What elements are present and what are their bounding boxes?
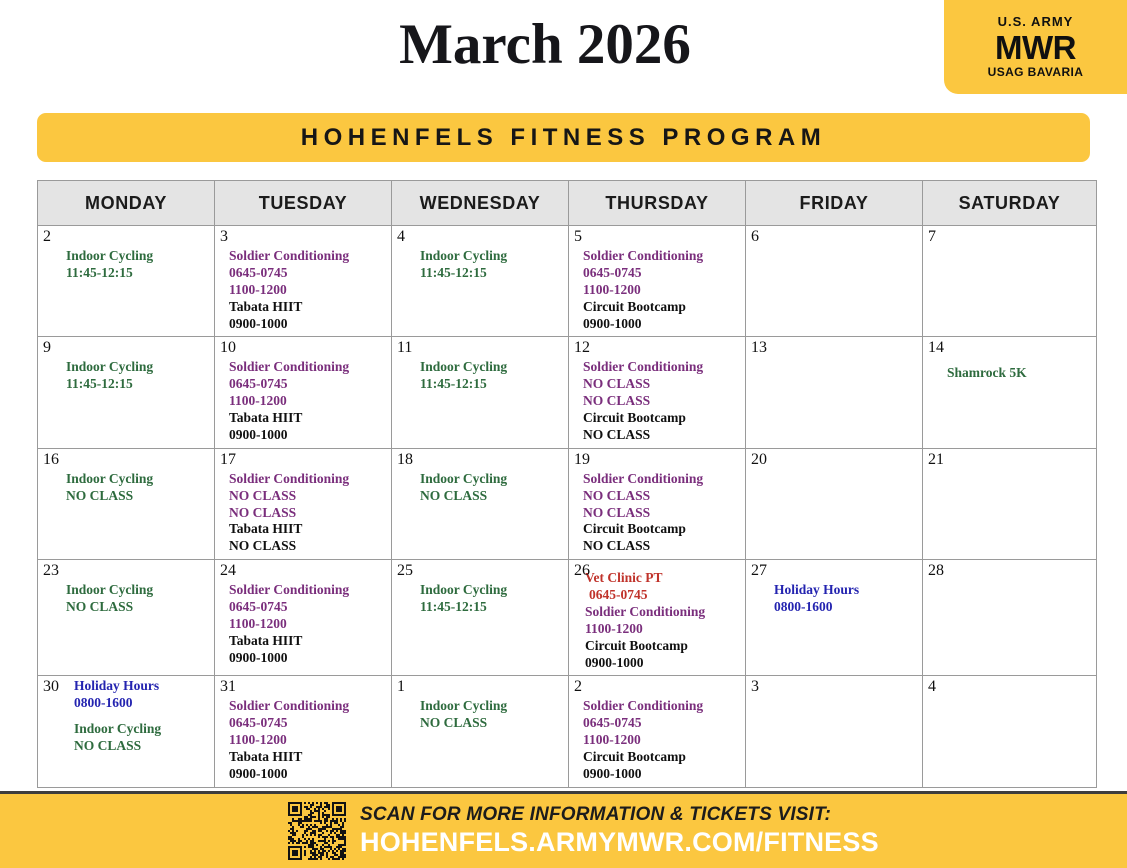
calendar-week-row: 16Indoor CyclingNO CLASS17Soldier Condit… bbox=[38, 448, 1097, 559]
calendar-day-cell[interactable]: 20 bbox=[746, 448, 923, 559]
calendar-header-row: MONDAY TUESDAY WEDNESDAY THURSDAY FRIDAY… bbox=[38, 181, 1097, 226]
event-line: 0900-1000 bbox=[583, 766, 741, 783]
event-line: 0645-0745 bbox=[583, 715, 741, 732]
day-number: 10 bbox=[220, 339, 236, 357]
event-line: 11:45-12:15 bbox=[66, 265, 210, 282]
calendar-day-cell[interactable]: 23Indoor CyclingNO CLASS bbox=[38, 560, 215, 676]
calendar-day-cell[interactable]: 31Soldier Conditioning0645-07451100-1200… bbox=[215, 676, 392, 788]
event-line: 0900-1000 bbox=[229, 427, 387, 444]
event-line: Tabata HIIT bbox=[229, 410, 387, 427]
day-number: 2 bbox=[43, 228, 51, 246]
event-line: 1100-1200 bbox=[229, 732, 387, 749]
event-line: NO CLASS bbox=[583, 376, 741, 393]
event-line: 0900-1000 bbox=[583, 316, 741, 333]
day-events: Soldier Conditioning0645-07451100-1200Ci… bbox=[569, 676, 745, 786]
calendar-body: 2Indoor Cycling11:45-12:153Soldier Condi… bbox=[38, 226, 1097, 788]
calendar-week-row: 2Indoor Cycling11:45-12:153Soldier Condi… bbox=[38, 226, 1097, 337]
calendar-day-cell[interactable]: 25Indoor Cycling11:45-12:15 bbox=[392, 560, 569, 676]
calendar-day-cell[interactable]: 9Indoor Cycling11:45-12:15 bbox=[38, 337, 215, 448]
day-events: Soldier Conditioning0645-07451100-1200Ta… bbox=[215, 560, 391, 670]
day-number: 9 bbox=[43, 339, 51, 357]
event-line: 0900-1000 bbox=[229, 316, 387, 333]
day-number: 30 bbox=[43, 678, 59, 696]
event-line: NO CLASS bbox=[74, 738, 210, 755]
calendar-week-row: 23Indoor CyclingNO CLASS24Soldier Condit… bbox=[38, 560, 1097, 676]
event-line: Circuit Bootcamp bbox=[583, 521, 741, 538]
event-line: 1100-1200 bbox=[229, 616, 387, 633]
mwr-logo-line2: MWR bbox=[995, 31, 1076, 64]
event-line: NO CLASS bbox=[229, 488, 387, 505]
day-number: 6 bbox=[751, 228, 759, 246]
weekday-header-saturday: SATURDAY bbox=[923, 181, 1097, 226]
event-line: 0645-0745 bbox=[229, 376, 387, 393]
footer-scan-label: SCAN FOR MORE INFORMATION & TICKETS VISI… bbox=[360, 804, 879, 827]
calendar-day-cell[interactable]: 26Vet Clinic PT0645-0745Soldier Conditio… bbox=[569, 560, 746, 676]
day-number: 3 bbox=[220, 228, 228, 246]
calendar-day-cell[interactable]: 17Soldier ConditioningNO CLASSNO CLASSTa… bbox=[215, 448, 392, 559]
weekday-header-friday: FRIDAY bbox=[746, 181, 923, 226]
calendar-day-cell[interactable]: 6 bbox=[746, 226, 923, 337]
event-line: 1100-1200 bbox=[229, 393, 387, 410]
event-line: Soldier Conditioning bbox=[229, 582, 387, 599]
day-number: 4 bbox=[397, 228, 405, 246]
day-events: Soldier Conditioning0645-07451100-1200Ta… bbox=[215, 676, 391, 786]
day-number: 25 bbox=[397, 562, 413, 580]
program-banner: HOHENFELS FITNESS PROGRAM bbox=[37, 113, 1090, 162]
calendar-day-cell[interactable]: 1Indoor CyclingNO CLASS bbox=[392, 676, 569, 788]
day-number: 2 bbox=[574, 678, 582, 696]
event-line: Holiday Hours bbox=[774, 582, 918, 599]
day-number: 4 bbox=[928, 678, 936, 696]
event-line: Soldier Conditioning bbox=[585, 604, 741, 621]
event-line: Soldier Conditioning bbox=[229, 359, 387, 376]
event-line: 11:45-12:15 bbox=[420, 265, 564, 282]
event-line: NO CLASS bbox=[420, 488, 564, 505]
event-line: 0645-0745 bbox=[229, 715, 387, 732]
day-events: Soldier ConditioningNO CLASSNO CLASSCirc… bbox=[569, 449, 745, 559]
calendar-day-cell[interactable]: 5Soldier Conditioning0645-07451100-1200C… bbox=[569, 226, 746, 337]
event-line: Indoor Cycling bbox=[420, 582, 564, 599]
calendar-grid: MONDAY TUESDAY WEDNESDAY THURSDAY FRIDAY… bbox=[37, 180, 1097, 788]
day-events: Holiday Hours0800-1600 bbox=[746, 560, 922, 620]
event-line: NO CLASS bbox=[229, 505, 387, 522]
event-line: Soldier Conditioning bbox=[583, 471, 741, 488]
day-events: Indoor Cycling11:45-12:15 bbox=[392, 226, 568, 286]
calendar-day-cell[interactable]: 14Shamrock 5K bbox=[923, 337, 1097, 448]
event-line: Tabata HIIT bbox=[229, 633, 387, 650]
day-events: Indoor Cycling11:45-12:15 bbox=[38, 226, 214, 286]
weekday-header-thursday: THURSDAY bbox=[569, 181, 746, 226]
calendar-day-cell[interactable]: 7 bbox=[923, 226, 1097, 337]
event-line: 0645-0745 bbox=[229, 265, 387, 282]
event-line: NO CLASS bbox=[583, 427, 741, 444]
event-line: Circuit Bootcamp bbox=[583, 749, 741, 766]
day-number: 31 bbox=[220, 678, 236, 696]
event-line: 0800-1600 bbox=[74, 695, 210, 712]
event-line: 1100-1200 bbox=[585, 621, 741, 638]
day-number: 28 bbox=[928, 562, 944, 580]
event-line: Holiday Hours bbox=[74, 678, 210, 695]
event-line: 0900-1000 bbox=[229, 766, 387, 783]
event-line: Vet Clinic PT bbox=[585, 570, 741, 587]
mwr-logo-line3: USAG BAVARIA bbox=[988, 66, 1084, 79]
calendar-week-row: 30Holiday Hours0800-1600Indoor CyclingNO… bbox=[38, 676, 1097, 788]
event-line: NO CLASS bbox=[583, 538, 741, 555]
event-line: Soldier Conditioning bbox=[229, 698, 387, 715]
event-line: 0645-0745 bbox=[585, 587, 741, 604]
event-line: Soldier Conditioning bbox=[229, 471, 387, 488]
day-number: 18 bbox=[397, 451, 413, 469]
event-line: Indoor Cycling bbox=[420, 359, 564, 376]
weekday-header-wednesday: WEDNESDAY bbox=[392, 181, 569, 226]
day-number: 5 bbox=[574, 228, 582, 246]
event-line: Indoor Cycling bbox=[66, 359, 210, 376]
event-line: Shamrock 5K bbox=[947, 365, 1092, 382]
day-number: 19 bbox=[574, 451, 590, 469]
event-line: 1100-1200 bbox=[583, 282, 741, 299]
event-line: 0900-1000 bbox=[229, 650, 387, 667]
event-line: Indoor Cycling bbox=[66, 582, 210, 599]
event-line: NO CLASS bbox=[66, 599, 210, 616]
day-number: 7 bbox=[928, 228, 936, 246]
day-events: Indoor CyclingNO CLASS bbox=[38, 560, 214, 620]
day-events: Indoor Cycling11:45-12:15 bbox=[392, 560, 568, 620]
event-line: Indoor Cycling bbox=[66, 471, 210, 488]
event-line: 0800-1600 bbox=[774, 599, 918, 616]
day-events: Indoor CyclingNO CLASS bbox=[392, 676, 568, 736]
event-line: Soldier Conditioning bbox=[583, 359, 741, 376]
event-line: 0645-0745 bbox=[583, 265, 741, 282]
event-line: 1100-1200 bbox=[229, 282, 387, 299]
footer-banner: SCAN FOR MORE INFORMATION & TICKETS VISI… bbox=[0, 791, 1127, 868]
calendar-day-cell[interactable]: 4 bbox=[923, 676, 1097, 788]
event-line: 0900-1000 bbox=[585, 655, 741, 672]
day-number: 23 bbox=[43, 562, 59, 580]
calendar-day-cell[interactable]: 10Soldier Conditioning0645-07451100-1200… bbox=[215, 337, 392, 448]
calendar-day-cell[interactable]: 21 bbox=[923, 448, 1097, 559]
event-line: Circuit Bootcamp bbox=[583, 299, 741, 316]
event-line: Indoor Cycling bbox=[74, 721, 210, 738]
day-events: Indoor CyclingNO CLASS bbox=[392, 449, 568, 509]
mwr-logo-line1: U.S. ARMY bbox=[998, 15, 1074, 29]
day-number: 1 bbox=[397, 678, 405, 696]
event-line: 1100-1200 bbox=[583, 732, 741, 749]
calendar-day-cell[interactable]: 2Indoor Cycling11:45-12:15 bbox=[38, 226, 215, 337]
calendar-day-cell[interactable]: 27Holiday Hours0800-1600 bbox=[746, 560, 923, 676]
day-number: 16 bbox=[43, 451, 59, 469]
calendar-day-cell[interactable]: 18Indoor CyclingNO CLASS bbox=[392, 448, 569, 559]
mwr-logo: U.S. ARMY MWR USAG BAVARIA bbox=[944, 0, 1127, 94]
calendar-week-row: 9Indoor Cycling11:45-12:1510Soldier Cond… bbox=[38, 337, 1097, 448]
event-line: NO CLASS bbox=[66, 488, 210, 505]
event-line: 11:45-12:15 bbox=[66, 376, 210, 393]
day-number: 11 bbox=[397, 339, 412, 357]
event-line: Indoor Cycling bbox=[420, 471, 564, 488]
calendar-day-cell[interactable]: 16Indoor CyclingNO CLASS bbox=[38, 448, 215, 559]
calendar-day-cell[interactable]: 28 bbox=[923, 560, 1097, 676]
day-events: Indoor Cycling11:45-12:15 bbox=[38, 337, 214, 397]
event-line: NO CLASS bbox=[583, 393, 741, 410]
event-line: Indoor Cycling bbox=[420, 248, 564, 265]
calendar-day-cell[interactable]: 24Soldier Conditioning0645-07451100-1200… bbox=[215, 560, 392, 676]
day-events: Soldier Conditioning0645-07451100-1200Ci… bbox=[569, 226, 745, 336]
day-events: Holiday Hours0800-1600Indoor CyclingNO C… bbox=[38, 676, 214, 759]
event-line: NO CLASS bbox=[583, 505, 741, 522]
footer-url[interactable]: HOHENFELS.ARMYMWR.COM/FITNESS bbox=[360, 827, 879, 858]
event-line: Indoor Cycling bbox=[420, 698, 564, 715]
event-line: Circuit Bootcamp bbox=[583, 410, 741, 427]
event-line: Tabata HIIT bbox=[229, 299, 387, 316]
calendar-day-cell[interactable]: 11Indoor Cycling11:45-12:15 bbox=[392, 337, 569, 448]
day-number: 12 bbox=[574, 339, 590, 357]
day-number: 26 bbox=[574, 562, 590, 580]
day-number: 13 bbox=[751, 339, 767, 357]
event-line: Indoor Cycling bbox=[66, 248, 210, 265]
program-banner-label: HOHENFELS FITNESS PROGRAM bbox=[301, 124, 827, 152]
day-number: 24 bbox=[220, 562, 236, 580]
event-line: Tabata HIIT bbox=[229, 521, 387, 538]
calendar-day-cell[interactable]: 13 bbox=[746, 337, 923, 448]
weekday-header-tuesday: TUESDAY bbox=[215, 181, 392, 226]
calendar-day-cell[interactable]: 19Soldier ConditioningNO CLASSNO CLASSCi… bbox=[569, 448, 746, 559]
event-line: Soldier Conditioning bbox=[583, 698, 741, 715]
day-number: 3 bbox=[751, 678, 759, 696]
event-line: 0645-0745 bbox=[229, 599, 387, 616]
qr-code-icon[interactable] bbox=[288, 802, 346, 860]
day-events: Indoor CyclingNO CLASS bbox=[38, 449, 214, 509]
event-line: Tabata HIIT bbox=[229, 749, 387, 766]
day-events: Soldier Conditioning0645-07451100-1200Ta… bbox=[215, 337, 391, 447]
day-events: Indoor Cycling11:45-12:15 bbox=[392, 337, 568, 397]
page-title: March 2026 bbox=[0, 14, 1090, 77]
day-events: Soldier Conditioning0645-07451100-1200Ta… bbox=[215, 226, 391, 336]
day-events: Soldier ConditioningNO CLASSNO CLASSTaba… bbox=[215, 449, 391, 559]
event-line: NO CLASS bbox=[583, 488, 741, 505]
day-number: 20 bbox=[751, 451, 767, 469]
event-line: 11:45-12:15 bbox=[420, 599, 564, 616]
calendar-day-cell[interactable]: 12Soldier ConditioningNO CLASSNO CLASSCi… bbox=[569, 337, 746, 448]
day-events: Vet Clinic PT0645-0745Soldier Conditioni… bbox=[569, 560, 745, 675]
day-number: 17 bbox=[220, 451, 236, 469]
calendar-day-cell[interactable]: 30Holiday Hours0800-1600Indoor CyclingNO… bbox=[38, 676, 215, 788]
event-line: Soldier Conditioning bbox=[229, 248, 387, 265]
day-events: Soldier ConditioningNO CLASSNO CLASSCirc… bbox=[569, 337, 745, 447]
day-number: 27 bbox=[751, 562, 767, 580]
day-number: 14 bbox=[928, 339, 944, 357]
event-line: NO CLASS bbox=[420, 715, 564, 732]
calendar-day-cell[interactable]: 4Indoor Cycling11:45-12:15 bbox=[392, 226, 569, 337]
calendar-day-cell[interactable]: 3Soldier Conditioning0645-07451100-1200T… bbox=[215, 226, 392, 337]
day-events: Shamrock 5K bbox=[923, 337, 1096, 386]
event-line: Circuit Bootcamp bbox=[585, 638, 741, 655]
page-header: March 2026 U.S. ARMY MWR USAG BAVARIA bbox=[0, 0, 1127, 103]
day-number: 21 bbox=[928, 451, 944, 469]
event-line: 11:45-12:15 bbox=[420, 376, 564, 393]
weekday-header-monday: MONDAY bbox=[38, 181, 215, 226]
event-line: NO CLASS bbox=[229, 538, 387, 555]
calendar-day-cell[interactable]: 2Soldier Conditioning0645-07451100-1200C… bbox=[569, 676, 746, 788]
event-line: Soldier Conditioning bbox=[583, 248, 741, 265]
calendar-day-cell[interactable]: 3 bbox=[746, 676, 923, 788]
